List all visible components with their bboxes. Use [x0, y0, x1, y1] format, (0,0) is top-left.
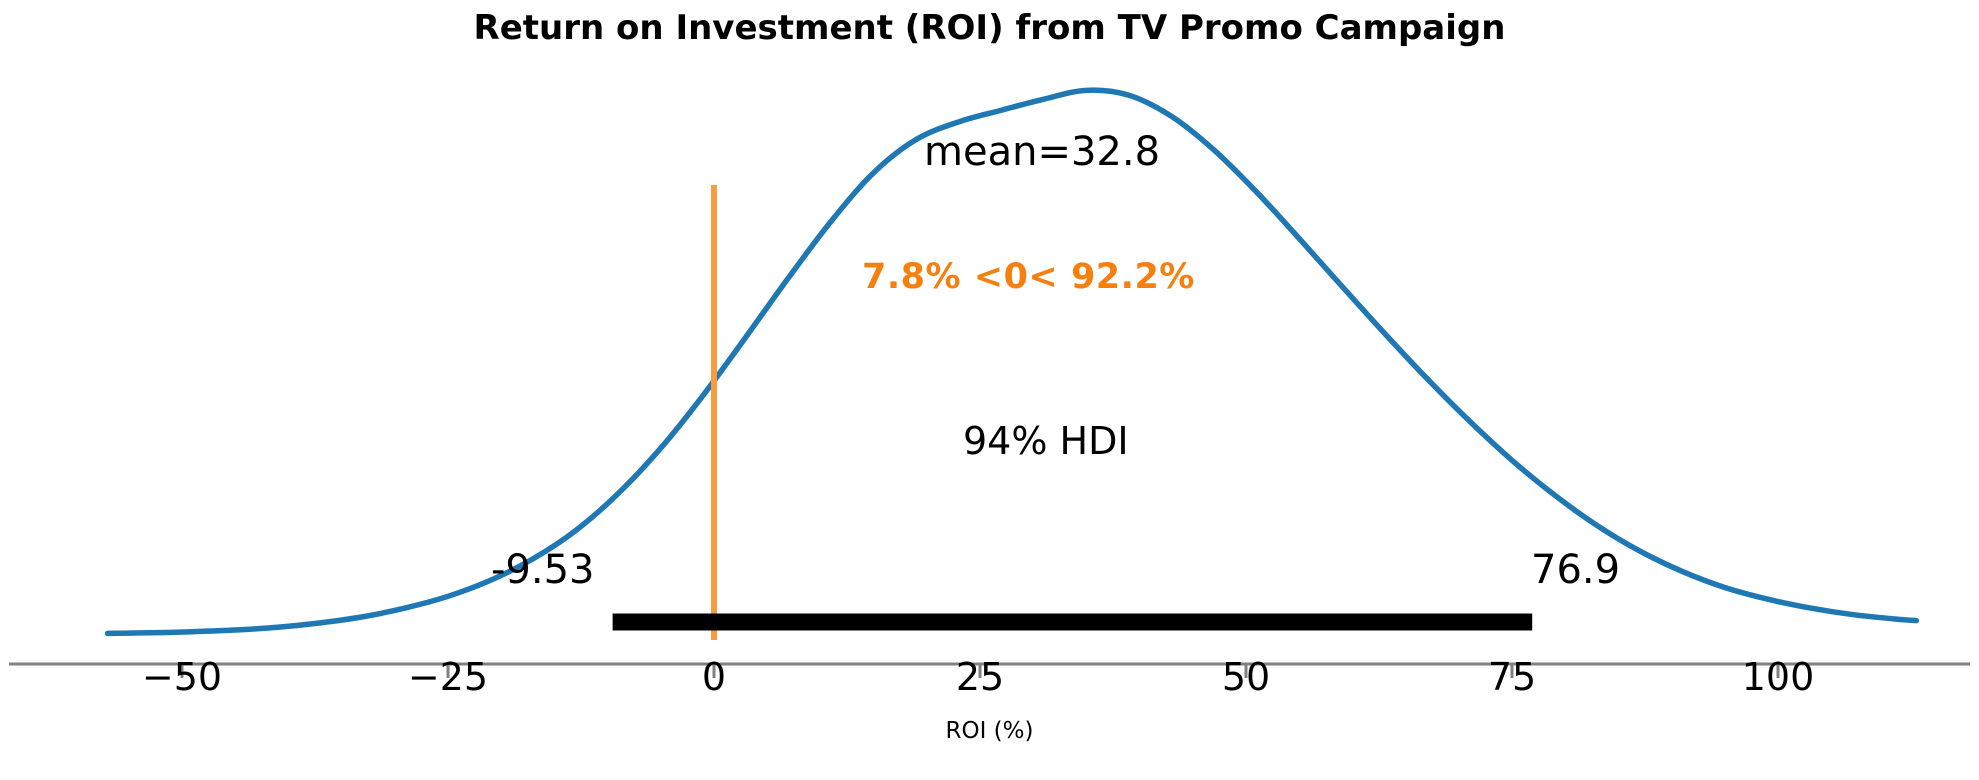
x-axis-tick-label: −50: [142, 655, 222, 699]
x-axis-tick-label: 25: [956, 655, 1004, 699]
x-axis-tick-label: 100: [1742, 655, 1815, 699]
hdi-lower-bound-label: -9.53: [491, 547, 595, 593]
hdi-upper-bound-label: 76.9: [1531, 547, 1620, 593]
x-axis-tick-label: 75: [1488, 655, 1536, 699]
x-axis-tick-label: 50: [1222, 655, 1270, 699]
posterior-plot-figure: Return on Investment (ROI) from TV Promo…: [0, 0, 1979, 780]
x-axis-tick-label: 0: [702, 655, 726, 699]
mean-annotation: mean=32.8: [924, 129, 1160, 175]
x-axis-tick-label: −25: [408, 655, 488, 699]
x-axis-label: ROI (%): [0, 718, 1979, 744]
reference-probability-annotation: 7.8% <0< 92.2%: [862, 257, 1195, 297]
hdi-probability-annotation: 94% HDI: [963, 419, 1129, 463]
